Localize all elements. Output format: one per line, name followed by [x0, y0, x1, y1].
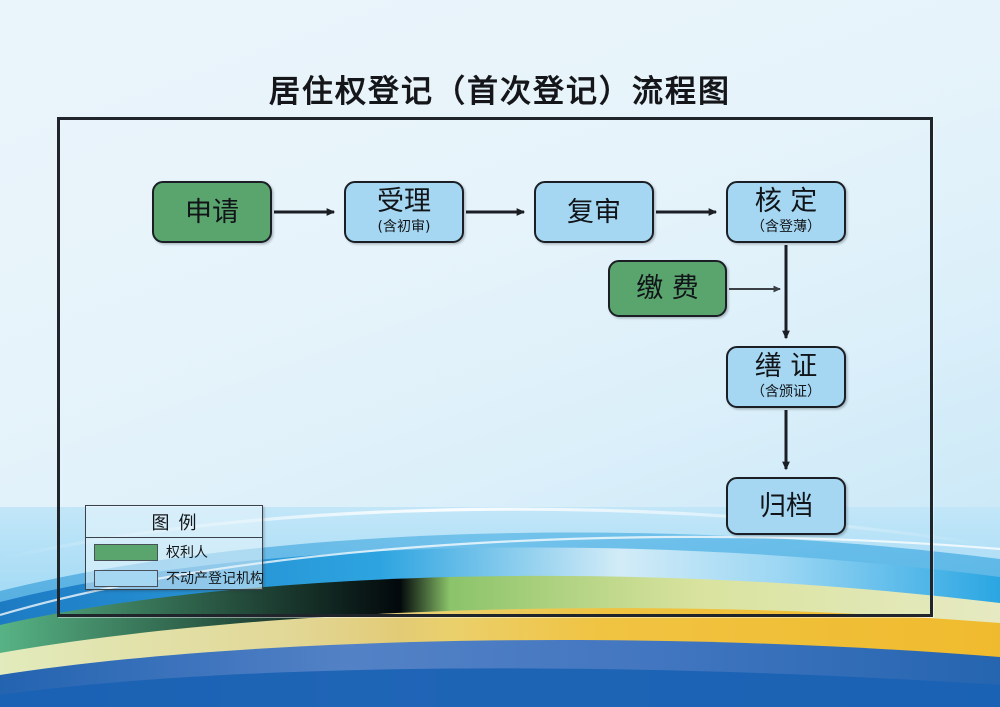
flowchart-page: 居住权登记（首次登记）流程图 [0, 0, 1000, 707]
legend-box: 图例 权利人 不动产登记机构 [85, 505, 263, 590]
node-approve-sublabel: （含登薄） [751, 220, 821, 234]
node-review[interactable]: 复审 [534, 181, 654, 243]
node-approve[interactable]: 核 定 （含登薄） [726, 181, 846, 243]
node-accept-label: 受理 [377, 188, 431, 215]
legend-label-rights-holder: 权利人 [166, 542, 208, 562]
node-payment-label: 缴 费 [636, 275, 699, 302]
legend-label-registry: 不动产登记机构 [166, 568, 264, 588]
node-issue-sublabel: （含颁证） [751, 385, 821, 399]
legend-row-registry: 不动产登记机构 [86, 566, 262, 590]
node-approve-label: 核 定 [755, 188, 818, 215]
node-apply-label: 申请 [185, 199, 239, 226]
legend-row-rights-holder: 权利人 [86, 540, 262, 564]
node-accept[interactable]: 受理 (含初审) [344, 181, 464, 243]
legend-swatch-green [94, 544, 158, 561]
connector-layer [0, 0, 1000, 707]
node-archive[interactable]: 归档 [726, 477, 846, 535]
node-accept-sublabel: (含初审) [378, 220, 431, 234]
legend-swatch-blue [94, 570, 158, 587]
legend-title: 图例 [86, 506, 262, 538]
node-apply[interactable]: 申请 [152, 181, 272, 243]
node-payment[interactable]: 缴 费 [608, 260, 727, 317]
node-issue-label: 缮 证 [755, 353, 818, 380]
node-archive-label: 归档 [759, 493, 813, 520]
node-issue[interactable]: 缮 证 （含颁证） [726, 346, 846, 408]
node-review-label: 复审 [567, 199, 621, 226]
